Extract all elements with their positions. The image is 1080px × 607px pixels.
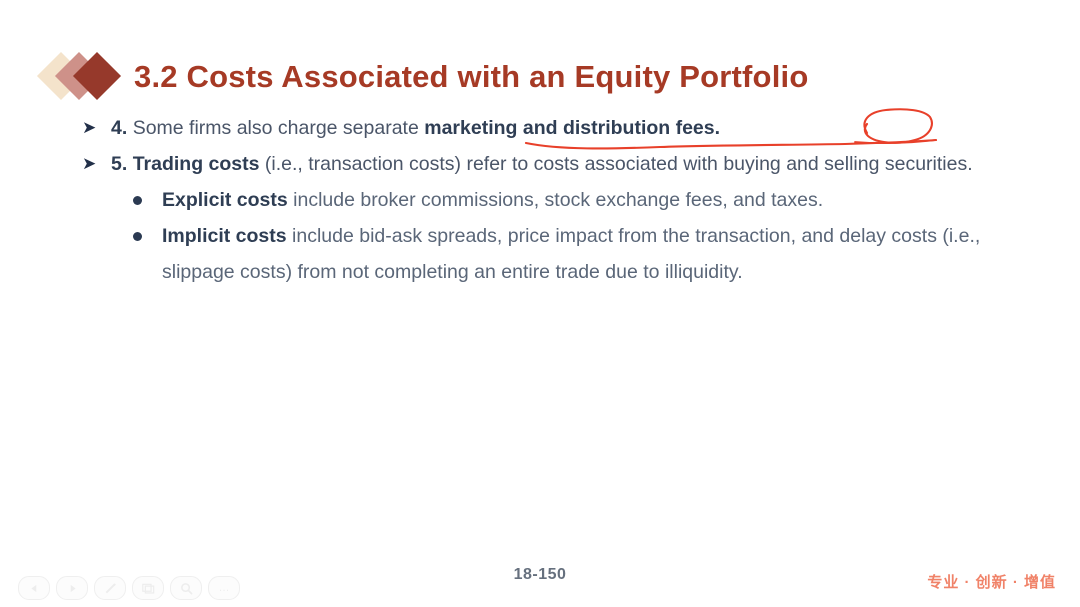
list-item: Explicit costs include broker commission…: [0, 182, 1080, 218]
footer-slogan: 专业 · 创新 · 增值: [927, 571, 1056, 592]
list-item: ➤ 5. Trading costs (i.e., transaction co…: [0, 146, 1080, 182]
bullet-lead-bold: Explicit costs: [162, 189, 288, 211]
slide-overview-button[interactable]: [132, 576, 164, 600]
list-item: Implicit costs include bid-ask spreads, …: [0, 218, 1080, 290]
magnifier-icon: [180, 582, 193, 595]
three-diamonds-icon: [44, 51, 130, 101]
slideshow-toolbar[interactable]: …: [18, 576, 240, 600]
slide-title-row: 3.2 Costs Associated with an Equity Port…: [44, 50, 808, 102]
triangle-left-icon: [30, 584, 39, 593]
pen-icon: [104, 582, 117, 595]
bullet-text: include broker commissions, stock exchan…: [288, 189, 823, 211]
bullet-number: 5.: [111, 153, 127, 175]
arrow-bullet-icon: ➤: [82, 146, 96, 182]
page-title: 3.2 Costs Associated with an Equity Port…: [134, 61, 808, 92]
list-item: ➤ 4. Some firms also charge separate mar…: [0, 110, 1080, 146]
more-options-button[interactable]: …: [208, 576, 240, 600]
dot-bullet-icon: [133, 232, 142, 241]
next-slide-button[interactable]: [56, 576, 88, 600]
bullet-lead-bold: Trading costs: [133, 153, 260, 175]
slides-grid-icon: [142, 583, 155, 594]
bullet-text: (i.e., transaction costs) refer to costs…: [259, 153, 972, 175]
bullet-lead-bold: Implicit costs: [162, 225, 287, 247]
arrow-bullet-icon: ➤: [82, 110, 96, 146]
dot-bullet-icon: [133, 196, 142, 205]
pen-button[interactable]: [94, 576, 126, 600]
bullet-number: 4.: [111, 117, 127, 139]
bullet-text: Some firms also charge separate: [133, 117, 425, 139]
zoom-button[interactable]: [170, 576, 202, 600]
slide-body: ➤ 4. Some firms also charge separate mar…: [0, 110, 1080, 290]
triangle-right-icon: [68, 584, 77, 593]
previous-slide-button[interactable]: [18, 576, 50, 600]
bullet-emphasis: marketing and distribution fees.: [424, 117, 720, 139]
presentation-slide: 3.2 Costs Associated with an Equity Port…: [0, 0, 1080, 607]
ellipsis-icon: …: [219, 583, 230, 594]
